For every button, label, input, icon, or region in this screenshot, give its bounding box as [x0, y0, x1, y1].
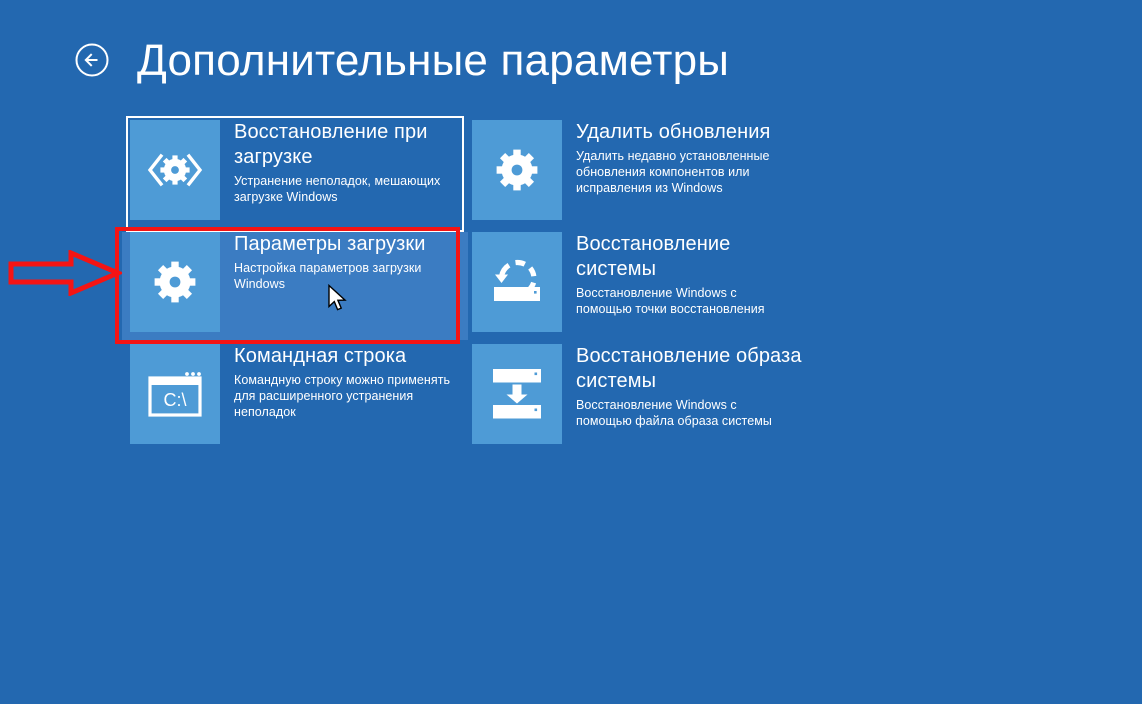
tile-title: Восстановление при загрузке — [234, 120, 460, 170]
tile-description: Командную строку можно применять для рас… — [234, 369, 452, 420]
tile-description: Восстановление Windows с помощью точки в… — [576, 282, 794, 317]
tile-startup-repair[interactable]: Восстановление при загрузке Устранение н… — [126, 116, 464, 232]
options-grid: Восстановление при загрузке Устранение н… — [0, 0, 1142, 704]
tile-command-prompt[interactable]: C:\ Командная строка Командную строку мо… — [130, 344, 460, 452]
drive-image-icon — [472, 344, 562, 444]
tile-description: Восстановление Windows с помощью файла о… — [576, 394, 794, 429]
tile-system-image-recovery[interactable]: Восстановление образа системы Восстановл… — [472, 344, 802, 452]
tile-text-block: Командная строка Командную строку можно … — [220, 344, 460, 420]
tile-text-block: Параметры загрузки Настройка параметров … — [220, 232, 460, 292]
drive-restore-icon — [472, 232, 562, 332]
tile-description: Удалить недавно установленные обновления… — [576, 145, 794, 196]
tile-title: Восстановление образа системы — [576, 344, 802, 394]
tile-startup-settings[interactable]: Параметры загрузки Настройка параметров … — [122, 232, 468, 340]
tile-uninstall-updates[interactable]: Удалить обновления Удалить недавно устан… — [472, 120, 802, 228]
tile-description: Настройка параметров загрузки Windows — [234, 257, 452, 292]
tile-title: Командная строка — [234, 344, 460, 369]
svg-text:C:\: C:\ — [163, 390, 186, 410]
tile-title: Восстановление системы — [576, 232, 802, 282]
tile-system-restore[interactable]: Восстановление системы Восстановление Wi… — [472, 232, 802, 340]
command-prompt-icon: C:\ — [130, 344, 220, 444]
tile-text-block: Восстановление системы Восстановление Wi… — [562, 232, 802, 317]
tile-text-block: Восстановление при загрузке Устранение н… — [220, 120, 460, 205]
tile-text-block: Удалить обновления Удалить недавно устан… — [562, 120, 802, 196]
gear-icon — [130, 232, 220, 332]
tile-title: Параметры загрузки — [234, 232, 460, 257]
tile-text-block: Восстановление образа системы Восстановл… — [562, 344, 802, 429]
gear-icon — [472, 120, 562, 220]
tile-description: Устранение неполадок, мешающих загрузке … — [234, 170, 452, 205]
gear-in-brackets-icon — [130, 120, 220, 220]
tile-title: Удалить обновления — [576, 120, 802, 145]
